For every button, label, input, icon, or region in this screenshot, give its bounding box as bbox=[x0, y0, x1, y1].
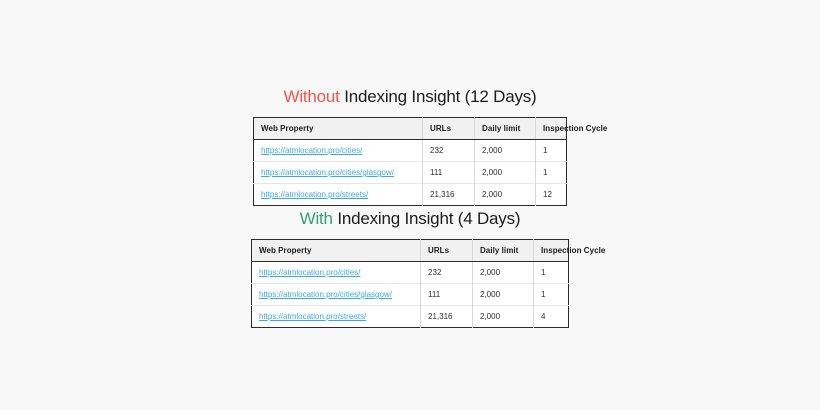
comparison-table-without: Web Property URLs Daily limit Inspection… bbox=[253, 117, 567, 206]
cell-daily-limit: 2,000 bbox=[473, 262, 534, 284]
table-header-row: Web Property URLs Daily limit Inspection… bbox=[254, 118, 567, 140]
cell-daily-limit: 2,000 bbox=[475, 162, 536, 184]
cell-web-property: https://atmlocation.pro/cities/glasgow/ bbox=[254, 162, 423, 184]
section-title-without: Without Indexing Insight (12 Days) bbox=[283, 86, 536, 108]
cell-inspection-cycle: 1 bbox=[534, 284, 569, 306]
column-header-web-property: Web Property bbox=[252, 240, 421, 262]
cell-inspection-cycle: 12 bbox=[536, 184, 567, 206]
section-with-indexing-insight: With Indexing Insight (4 Days) Web Prope… bbox=[0, 208, 820, 328]
section-title-rest-with: Indexing Insight (4 Days) bbox=[333, 209, 521, 228]
cell-urls: 21,316 bbox=[421, 306, 473, 328]
column-header-urls: URLs bbox=[421, 240, 473, 262]
cell-web-property: https://atmlocation.pro/streets/ bbox=[254, 184, 423, 206]
cell-inspection-cycle: 1 bbox=[536, 162, 567, 184]
column-header-inspection-cycle: Inspection Cycle bbox=[534, 240, 569, 262]
cell-urls: 111 bbox=[423, 162, 475, 184]
cell-web-property: https://atmlocation.pro/cities/ bbox=[254, 140, 423, 162]
column-header-web-property: Web Property bbox=[254, 118, 423, 140]
comparison-table-with: Web Property URLs Daily limit Inspection… bbox=[251, 239, 569, 328]
table-body-with: https://atmlocation.pro/cities/ 232 2,00… bbox=[252, 262, 569, 328]
column-header-inspection-cycle: Inspection Cycle bbox=[536, 118, 567, 140]
cell-web-property: https://atmlocation.pro/streets/ bbox=[252, 306, 421, 328]
cell-urls: 111 bbox=[421, 284, 473, 306]
web-property-link[interactable]: https://atmlocation.pro/cities/ bbox=[261, 146, 362, 155]
table-header-without: Web Property URLs Daily limit Inspection… bbox=[254, 118, 567, 140]
table-header-with: Web Property URLs Daily limit Inspection… bbox=[252, 240, 569, 262]
column-header-daily-limit: Daily limit bbox=[475, 118, 536, 140]
table-row: https://atmlocation.pro/streets/ 21,316 … bbox=[252, 306, 569, 328]
table-body-without: https://atmlocation.pro/cities/ 232 2,00… bbox=[254, 140, 567, 206]
cell-web-property: https://atmlocation.pro/cities/glasgow/ bbox=[252, 284, 421, 306]
cell-web-property: https://atmlocation.pro/cities/ bbox=[252, 262, 421, 284]
web-property-link[interactable]: https://atmlocation.pro/streets/ bbox=[261, 190, 368, 199]
table-row: https://atmlocation.pro/cities/glasgow/ … bbox=[254, 162, 567, 184]
cell-urls: 21,316 bbox=[423, 184, 475, 206]
cell-inspection-cycle: 4 bbox=[534, 306, 569, 328]
section-title-accent-without: Without bbox=[283, 87, 339, 106]
column-header-urls: URLs bbox=[423, 118, 475, 140]
section-title-accent-with: With bbox=[300, 209, 333, 228]
section-without-indexing-insight: Without Indexing Insight (12 Days) Web P… bbox=[0, 86, 820, 206]
web-property-link[interactable]: https://atmlocation.pro/cities/glasgow/ bbox=[261, 168, 394, 177]
table-row: https://atmlocation.pro/cities/ 232 2,00… bbox=[254, 140, 567, 162]
section-title-rest-without: Indexing Insight (12 Days) bbox=[340, 87, 537, 106]
cell-daily-limit: 2,000 bbox=[475, 140, 536, 162]
cell-daily-limit: 2,000 bbox=[473, 306, 534, 328]
cell-urls: 232 bbox=[421, 262, 473, 284]
table-row: https://atmlocation.pro/streets/ 21,316 … bbox=[254, 184, 567, 206]
cell-urls: 232 bbox=[423, 140, 475, 162]
section-title-with: With Indexing Insight (4 Days) bbox=[300, 208, 521, 230]
table-row: https://atmlocation.pro/cities/glasgow/ … bbox=[252, 284, 569, 306]
web-property-link[interactable]: https://atmlocation.pro/cities/glasgow/ bbox=[259, 290, 392, 299]
cell-inspection-cycle: 1 bbox=[536, 140, 567, 162]
web-property-link[interactable]: https://atmlocation.pro/cities/ bbox=[259, 268, 360, 277]
comparison-page: Without Indexing Insight (12 Days) Web P… bbox=[0, 0, 820, 410]
column-header-daily-limit: Daily limit bbox=[473, 240, 534, 262]
table-row: https://atmlocation.pro/cities/ 232 2,00… bbox=[252, 262, 569, 284]
cell-daily-limit: 2,000 bbox=[473, 284, 534, 306]
table-header-row: Web Property URLs Daily limit Inspection… bbox=[252, 240, 569, 262]
web-property-link[interactable]: https://atmlocation.pro/streets/ bbox=[259, 312, 366, 321]
cell-daily-limit: 2,000 bbox=[475, 184, 536, 206]
cell-inspection-cycle: 1 bbox=[534, 262, 569, 284]
